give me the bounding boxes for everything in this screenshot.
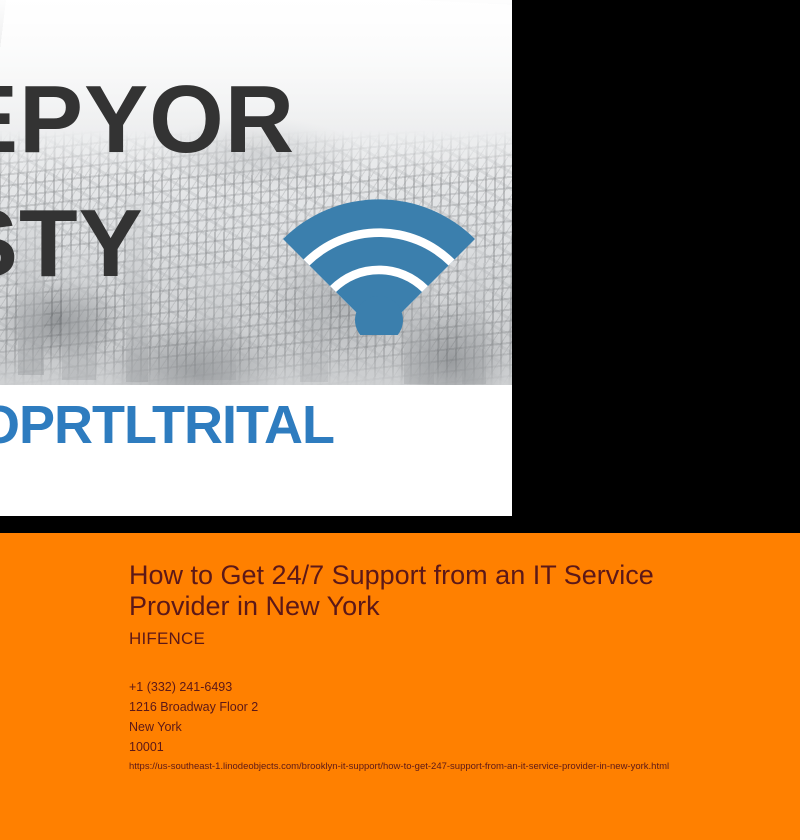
hero-headline-line-2: STY	[0, 196, 144, 292]
contact-city: New York	[129, 717, 729, 737]
building-slab	[196, 268, 236, 380]
hero-wordmark: OPRTLTRITAL	[0, 398, 334, 452]
brand-name: HIFENCE	[129, 629, 205, 649]
page-title: How to Get 24/7 Support from an IT Servi…	[129, 560, 689, 623]
contact-postal-code: 10001	[129, 737, 729, 757]
source-url-link[interactable]: https://us-southeast-1.linodeobjects.com…	[129, 761, 669, 773]
contact-phone[interactable]: +1 (332) 241-6493	[129, 677, 729, 697]
contact-street: 1216 Broadway Floor 2	[129, 697, 729, 717]
hero-headline-line-1: EPYOR	[0, 72, 295, 168]
hero-image: EPYOR STY OPRTLTRITAL	[0, 0, 512, 516]
wifi-icon	[283, 190, 475, 335]
content-panel: How to Get 24/7 Support from an IT Servi…	[0, 533, 800, 840]
page-root: EPYOR STY OPRTLTRITAL How to Get 24/7 Su…	[0, 0, 800, 840]
contact-block: +1 (332) 241-6493 1216 Broadway Floor 2 …	[129, 677, 729, 757]
